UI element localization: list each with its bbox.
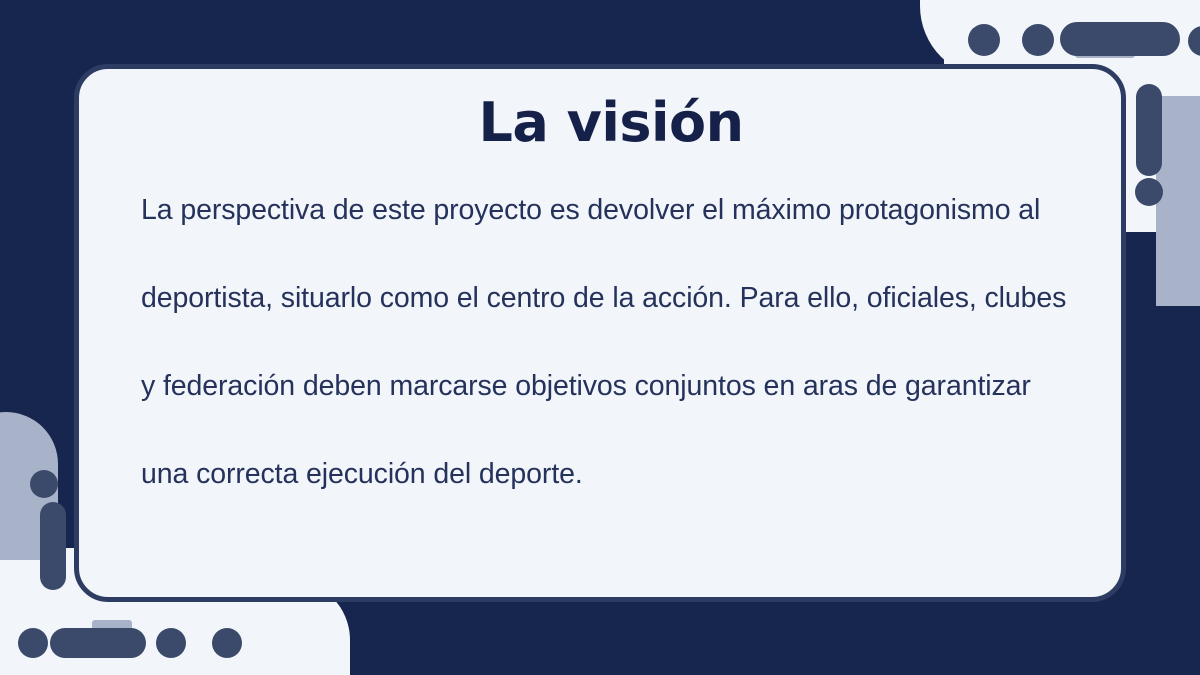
top-right-vertical-capsule-icon <box>1136 84 1162 176</box>
page-title: La visión <box>141 93 1081 152</box>
top-right-horizontal-capsule-icon <box>1060 22 1180 56</box>
top-right-grey-rectangle-icon <box>1156 96 1200 306</box>
body-paragraph: La perspectiva de este proyecto es devol… <box>141 166 1081 518</box>
bottom-left-horizontal-capsule-icon <box>50 628 146 658</box>
top-right-dot-4-icon <box>1135 178 1163 206</box>
content-card: La visión La perspectiva de este proyect… <box>74 64 1126 602</box>
top-right-dot-2-icon <box>1022 24 1054 56</box>
bottom-left-dot-1-icon <box>30 470 58 498</box>
bottom-left-dot-3-icon <box>156 628 186 658</box>
bottom-left-dot-2-icon <box>18 628 48 658</box>
bottom-left-vertical-capsule-icon <box>40 502 66 590</box>
bottom-left-dot-4-icon <box>212 628 242 658</box>
slide-canvas: La visión La perspectiva de este proyect… <box>0 0 1200 675</box>
top-right-dot-1-icon <box>968 24 1000 56</box>
